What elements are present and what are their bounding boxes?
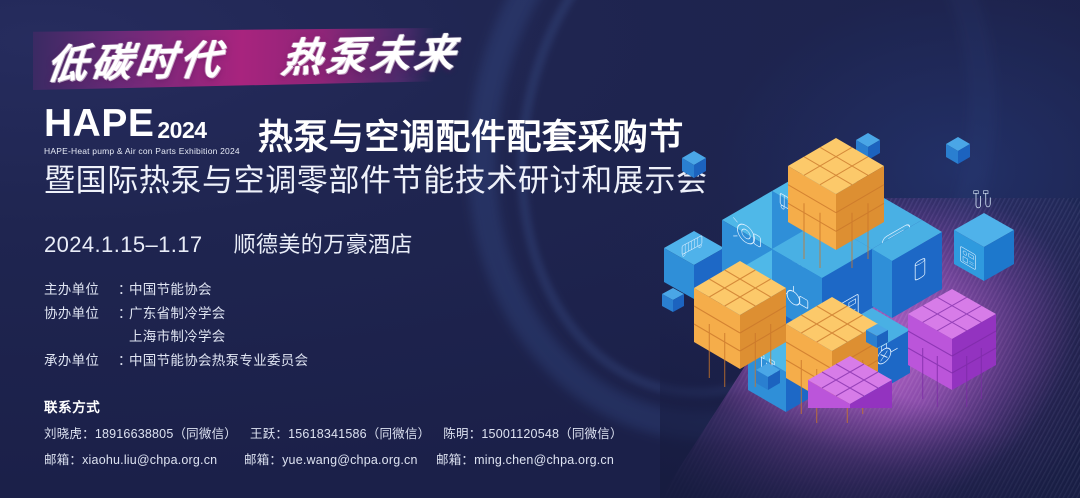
isometric-cube-cluster	[660, 118, 1060, 408]
contact-name: 陈明	[443, 427, 468, 441]
calligraphy-slogan-part-1: 低碳时代	[44, 36, 227, 88]
contact-name: 王跃	[250, 427, 275, 441]
brand-year: 2024	[157, 119, 206, 142]
contact-colon: ：	[82, 427, 95, 441]
contact-phone: 15618341586	[288, 427, 367, 441]
contact-person: 刘晓虎：18916638805（同微信）	[44, 425, 237, 443]
contact-phone: 15001120548	[481, 427, 559, 441]
satellite-cube-small-3	[946, 137, 970, 164]
promo-banner: 低碳时代 热泵未来 HAPE 2024 HAPE-Heat pump & Air…	[0, 0, 1080, 498]
contact-wechat-note: （同微信）	[173, 427, 237, 441]
satellite-cube-small-4	[662, 288, 684, 312]
email-address: ming.chen@chpa.org.cn	[474, 453, 614, 467]
organizer-colon: ：	[118, 278, 129, 302]
email-label: 邮箱	[244, 453, 269, 467]
contact-person: 陈明：15001120548（同微信）	[443, 425, 622, 443]
organizer-colon: ：	[118, 349, 129, 373]
cube-icon-pipes-2	[974, 191, 991, 208]
event-dates: 2024.1.15–1.17	[44, 232, 203, 257]
contact-section-title: 联系方式	[44, 399, 100, 417]
brand-name: HAPE	[44, 104, 154, 143]
email-colon: ：	[269, 453, 282, 467]
contact-wechat-note: （同微信）	[559, 427, 623, 441]
organizer-value: 广东省制冷学会	[129, 302, 226, 326]
contact-people-row: 刘晓虎：18916638805（同微信） 王跃：15618341586（同微信）…	[44, 425, 636, 443]
accent-cube-purple-right	[908, 289, 996, 407]
brand-logo: HAPE 2024	[44, 104, 240, 143]
organizer-colon	[118, 325, 129, 349]
contact-phone: 18916638805	[95, 427, 174, 441]
contact-email: 邮箱：yue.wang@chpa.org.cn	[244, 451, 436, 469]
contact-email: 邮箱：xiaohu.liu@chpa.org.cn	[44, 451, 244, 469]
brand-logo-block: HAPE 2024 HAPE-Heat pump & Air con Parts…	[44, 104, 248, 157]
contact-colon: ：	[469, 427, 482, 441]
calligraphy-slogan-part-2: 热泵未来	[279, 30, 462, 82]
organizer-value: 中国节能协会	[129, 278, 212, 302]
event-date-venue: 2024.1.15–1.17 顺德美的万豪酒店	[44, 232, 413, 258]
organizer-row: 协办单位 ： 广东省制冷学会	[44, 302, 308, 326]
organizer-block: 主办单位 ： 中国节能协会 协办单位 ： 广东省制冷学会 协办单位 上海市制冷学…	[44, 278, 308, 372]
headline-main-title: 热泵与空调配件配套采购节	[258, 120, 684, 156]
contact-email: 邮箱：ming.chen@chpa.org.cn	[436, 451, 614, 469]
contact-emails-row: 邮箱：xiaohu.liu@chpa.org.cn 邮箱：yue.wang@ch…	[44, 451, 614, 469]
contact-name: 刘晓虎	[44, 427, 82, 441]
contact-colon: ：	[275, 427, 288, 441]
organizer-value: 中国节能协会热泵专业委员会	[129, 349, 308, 373]
contact-wechat-note: （同微信）	[367, 427, 431, 441]
organizer-row: 协办单位 上海市制冷学会	[44, 325, 308, 349]
brand-english-subtitle: HAPE-Heat pump & Air con Parts Exhibitio…	[44, 146, 240, 157]
organizer-row: 主办单位 ： 中国节能协会	[44, 278, 308, 302]
organizer-row: 承办单位 ： 中国节能协会热泵专业委员会	[44, 349, 308, 373]
email-label: 邮箱	[436, 453, 461, 467]
headline-secondary-title: 暨国际热泵与空调零部件节能技术研讨和展示会	[44, 164, 708, 198]
calligraphy-spacer	[240, 72, 262, 73]
event-venue: 顺德美的万豪酒店	[234, 232, 413, 257]
email-label: 邮箱	[44, 453, 69, 467]
organizer-label: 主办单位	[44, 278, 118, 302]
satellite-cube-small-1	[682, 151, 706, 178]
organizer-label: 承办单位	[44, 349, 118, 373]
organizer-colon: ：	[118, 302, 129, 326]
email-address: yue.wang@chpa.org.cn	[282, 453, 418, 467]
floating-cube-right-pcb	[954, 191, 1014, 281]
calligraphy-slogan: 低碳时代 热泵未来	[44, 29, 433, 94]
contact-person: 王跃：15618341586（同微信）	[250, 425, 430, 443]
organizer-value: 上海市制冷学会	[129, 325, 226, 349]
email-colon: ：	[461, 453, 474, 467]
headline-row: HAPE 2024 HAPE-Heat pump & Air con Parts…	[44, 104, 684, 157]
organizer-label: 协办单位	[44, 302, 118, 326]
email-address: xiaohu.liu@chpa.org.cn	[82, 453, 217, 467]
email-colon: ：	[69, 453, 82, 467]
